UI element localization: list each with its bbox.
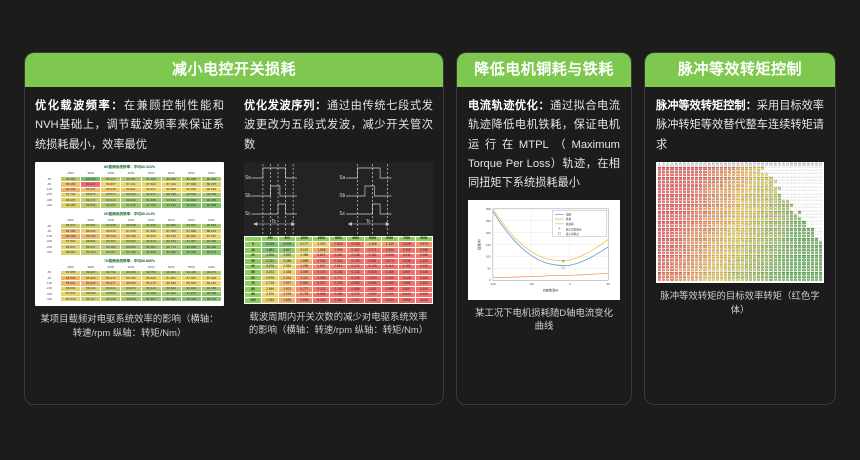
loss-curve-chart-svg: ✳ ✳ 铜耗 铁耗 xyxy=(471,203,617,296)
svg-text:Tc: Tc xyxy=(366,219,371,225)
svg-text:Tc: Tc xyxy=(271,219,276,225)
paragraph-pulse-torque: 脉冲等效转矩控制：采用目标效率脉冲转矩等效替代整车连续转矩请求 xyxy=(656,97,824,155)
cell: 90.809 xyxy=(121,297,141,302)
cell: 92.624 xyxy=(181,203,201,208)
column-pulse-torque: 脉冲等效转矩控制：采用目标效率脉冲转矩等效替代整车连续转矩请求 02550751… xyxy=(645,97,835,317)
ytick-150: 150 xyxy=(486,243,491,247)
cell: 87.878 xyxy=(61,297,81,302)
lead-pulse-torque: 脉冲等效转矩控制： xyxy=(656,100,757,112)
legend-label-2: 总损耗 xyxy=(566,222,574,226)
figure-pulse-torque-map: 0255075100125150175200225250275300325350… xyxy=(656,162,824,284)
xtick-n50: -50 xyxy=(529,282,534,286)
legend-label-1: 铁耗 xyxy=(566,217,572,221)
cell: 88.261 xyxy=(61,250,81,255)
lead-current-trajectory: 电流轨迹优化： xyxy=(468,100,550,112)
efficiency-table-2: 7K载频系统效率：平均88.885%2800380035004000450050… xyxy=(37,258,222,303)
ytick-50: 50 xyxy=(487,267,491,271)
legend-label-0: 铜耗 xyxy=(566,213,572,217)
efficiency-table-1: 6K载频系统效率：平均89.214%2800380035004000450050… xyxy=(37,211,222,256)
cell: 91.235 xyxy=(121,203,141,208)
cell: 0.040 xyxy=(415,298,432,304)
cell: 0.085 xyxy=(364,298,381,304)
lead-carrier-frequency: 优化载波频率： xyxy=(35,100,124,112)
ytick-200: 200 xyxy=(486,231,491,235)
cell: 90.287 xyxy=(101,250,121,255)
panel-body-1: 电流轨迹优化：通过拟合电流轨迹降低电机铁耗，保证电机运行在MTPL（Maximu… xyxy=(457,87,631,333)
panel-title-1: 降低电机铜耗与铁耗 xyxy=(457,53,631,87)
cell: 0.090 xyxy=(398,298,415,304)
panel-title-2: 脉冲等效转矩控制 xyxy=(645,53,835,87)
table-row: 64.264.067.163.668.565.970.572.869.174.3… xyxy=(658,279,823,282)
cell: 92.375 xyxy=(201,297,221,302)
cell: 88.365 xyxy=(61,203,81,208)
efficiency-table-title-2: 7K载频系统效率：平均88.885% xyxy=(37,258,222,265)
svg-text:Sa: Sa xyxy=(245,175,251,181)
panel-title-0: 减小电控开关损耗 xyxy=(25,53,443,87)
caption-carrier-frequency: 某项目载频对电驱系统效率的影响（横轴：转速/rpm 纵轴：转矩/Nm） xyxy=(35,312,224,339)
cell: 91.130 xyxy=(121,250,141,255)
cell: 90.492 xyxy=(101,203,121,208)
panel-reduce-motor-loss: 降低电机铜耗与铁耗 电流轨迹优化：通过拟合电流轨迹降低电机铁耗，保证电机运行在M… xyxy=(456,52,632,405)
cell: 92.858 xyxy=(201,203,221,208)
caption-pulse-torque: 脉冲等效转矩的目标效率转矩（红色字体） xyxy=(656,289,824,316)
ytick-300: 300 xyxy=(486,207,491,211)
xtick-n100: -100 xyxy=(490,282,496,286)
ytick-250: 250 xyxy=(486,219,491,223)
figure-loss-curve: ✳ ✳ 铜耗 铁耗 xyxy=(468,200,620,299)
body-current-trajectory: 通过拟合电流轨迹降低电机铁耗，保证电机运行在MTPL（Maximum Torqu… xyxy=(468,100,620,189)
cell: 0.205 xyxy=(313,298,330,304)
y-axis-label: 损耗/W xyxy=(476,239,481,251)
efficiency-table-title-0: 8K载频系统效率：平均80.323% xyxy=(37,164,222,171)
cell: 92.429 xyxy=(181,297,201,302)
cell: 1.616 xyxy=(279,298,296,304)
paragraph-carrier-frequency: 优化载波频率：在兼顾控制性能和NVH基础上，调节载波频率来保证系统损耗最小，效率… xyxy=(35,97,224,155)
cell: 92.002 xyxy=(161,297,181,302)
svg-text:Sb: Sb xyxy=(339,193,345,199)
switching-waveform-svg: SaSbSc SaSbSc TcTc xyxy=(244,162,433,236)
lead-switching-sequence: 优化发波序列： xyxy=(244,100,327,112)
x-axis-label: D轴电流/A xyxy=(543,288,559,293)
efficiency-table-title-1: 6K载频系统效率：平均89.214% xyxy=(37,211,222,218)
cell: 0.112 xyxy=(347,298,364,304)
row-header-5: -400 xyxy=(38,297,61,302)
row-header-5: -400 xyxy=(38,250,61,255)
cell: 0.695 xyxy=(296,298,313,304)
efficiency-tables-image: 8K载频系统效率：平均80.323%2800380035004000450050… xyxy=(35,162,224,307)
table-row: -40088.36589.56690.49291.23591.76692.214… xyxy=(38,203,222,208)
cell: 91.606 xyxy=(141,250,161,255)
cell: 89.566 xyxy=(81,203,101,208)
table-row: -40088.26189.41090.28791.13091.60692.062… xyxy=(38,250,222,255)
cell: 2.260 xyxy=(262,298,279,304)
panel-body-0: 优化载波频率：在兼顾控制性能和NVH基础上，调节载波频率来保证系统损耗最小，效率… xyxy=(25,87,443,340)
cell: 98.0 xyxy=(818,279,822,282)
cell: 89.117 xyxy=(81,297,101,302)
xtick-50: 50 xyxy=(607,282,611,286)
figure-switching-waveform: SaSbSc SaSbSc TcTc 250500100020003000400… xyxy=(244,162,433,304)
panel-pulse-torque-control: 脉冲等效转矩控制 脉冲等效转矩控制：采用目标效率脉冲转矩等效替代整车连续转矩请求… xyxy=(644,52,836,405)
panel-body-2: 脉冲等效转矩控制：采用目标效率脉冲转矩等效替代整车连续转矩请求 02550751… xyxy=(645,87,835,317)
paragraph-current-trajectory: 电流轨迹优化：通过拟合电流轨迹降低电机铁耗，保证电机运行在MTPL（Maximu… xyxy=(468,97,620,193)
legend-label-4: 最小铜耗点 xyxy=(566,232,579,236)
figure-efficiency-heat-tables: 8K载频系统效率：平均80.323%2800380035004000450050… xyxy=(35,162,224,307)
cell: 0.034 xyxy=(381,298,398,304)
table-row: -40087.87889.11790.10690.80991.92792.002… xyxy=(38,297,222,302)
column-switching-sequence: 优化发波序列：通过由传统七段式发波更改为五段式发波，减少开关管次数 xyxy=(234,97,443,340)
cell: 0.160 xyxy=(330,298,347,304)
efficiency-table-0: 8K载频系统效率：平均80.323%2800380035004000450050… xyxy=(37,164,222,209)
svg-text:Sc: Sc xyxy=(245,211,251,217)
cell: 90.106 xyxy=(101,297,121,302)
infographic-root: 减小电控开关损耗 优化载波频率：在兼顾控制性能和NVH基础上，调节载波频率来保证… xyxy=(0,0,860,460)
svg-text:Sb: Sb xyxy=(245,193,251,199)
svg-text:Sa: Sa xyxy=(339,175,345,181)
table-row: 1002.2601.6160.6950.2050.1600.1120.0850.… xyxy=(245,298,433,304)
cell: 91.766 xyxy=(141,203,161,208)
cell: 92.362 xyxy=(181,250,201,255)
switching-count-table: 2505001000200030004000500060007000800055… xyxy=(244,236,433,304)
cell: 92.573 xyxy=(201,250,221,255)
column-carrier-frequency: 优化载波频率：在兼顾控制性能和NVH基础上，调节载波频率来保证系统损耗最小，效率… xyxy=(25,97,234,340)
caption-switching-sequence: 载波周期内开关次数的减少对电驱系统效率的影响（横轴：转速/rpm 纵轴：转矩/N… xyxy=(244,310,433,337)
cell: 89.410 xyxy=(81,250,101,255)
cell: 91.927 xyxy=(141,297,161,302)
row-header-5: -400 xyxy=(38,203,61,208)
svg-text:Sc: Sc xyxy=(339,211,345,217)
row-header-10: 100 xyxy=(245,298,262,304)
cell: 92.062 xyxy=(161,250,181,255)
cell: 92.214 xyxy=(161,203,181,208)
paragraph-switching-sequence: 优化发波序列：通过由传统七段式发波更改为五段式发波，减少开关管次数 xyxy=(244,97,433,155)
caption-current-trajectory: 某工况下电机损耗随D轴电流变化曲线 xyxy=(468,306,620,333)
panel-reduce-switching-loss: 减小电控开关损耗 优化载波频率：在兼顾控制性能和NVH基础上，调节载波频率来保证… xyxy=(24,52,444,405)
ytick-100: 100 xyxy=(486,255,491,259)
legend-label-3: 最小总损耗点 xyxy=(566,228,582,232)
pulse-torque-heatmap: 0255075100125150175200225250275300325350… xyxy=(657,163,823,283)
column-current-trajectory: 电流轨迹优化：通过拟合电流轨迹降低电机铁耗，保证电机运行在MTPL（Maximu… xyxy=(457,97,631,333)
